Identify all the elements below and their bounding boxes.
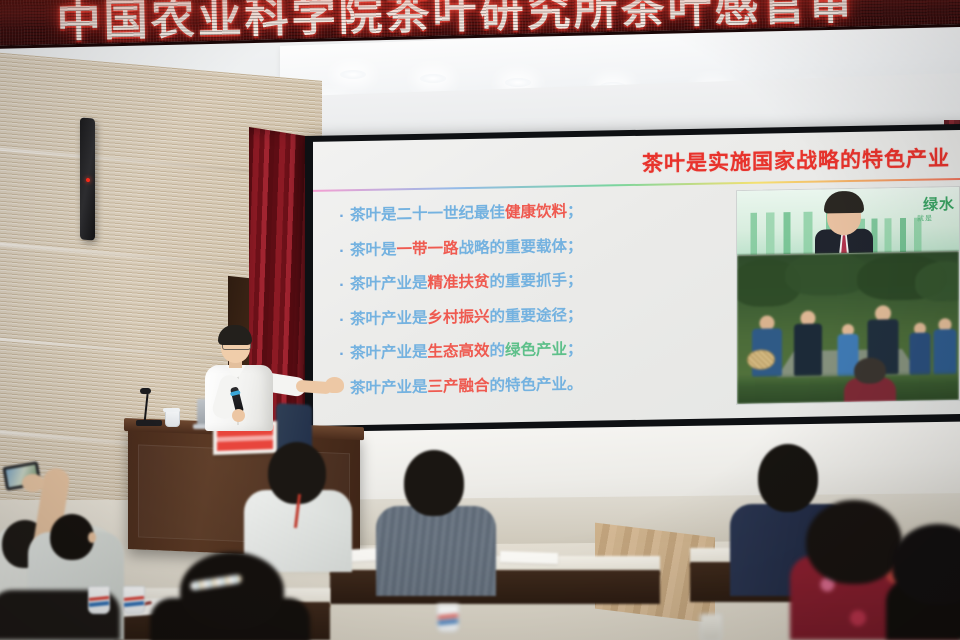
bullet-segment-r: 生态高效 [427,342,489,361]
microphone-base [136,420,162,426]
bullet-segment-b: 茶叶是 [350,240,397,259]
downlight-2 [420,74,446,83]
bullet-segment-b: 的特色产业。 [489,374,582,394]
paper-cup-1 [88,586,110,614]
audience-member-3 [244,432,352,572]
field-viewer-figure [844,357,896,402]
slide-bullet-6: ·茶叶产业是三产融合的特色产业。 [339,369,739,398]
bullet-segment-r: 三产融合 [427,376,489,395]
projection-screen-frame: 茶叶是实施国家战略的特色产业 ·茶叶是二十一世纪最佳健康饮料；·茶叶是一带一路战… [305,124,960,436]
slide-photo-top: 绿水 就是 [737,187,959,255]
slide-bullet-text: 茶叶产业是精准扶贫的重要抓手； [350,268,583,294]
cup-stripe-blue [124,601,144,607]
presenter-hair [218,325,252,345]
slide-bullet-4: ·茶叶产业是乡村振兴的重要途径； [339,300,739,329]
wall-speaker [80,117,95,240]
slide-bullet-2: ·茶叶是一带一路战略的重要载体； [339,231,739,260]
bullet-segment-r: 健康饮料 [505,202,567,221]
audience-ear [88,532,96,543]
slide-bullet-text: 茶叶产业是三产融合的特色产业。 [350,371,583,397]
cup-stripe-blue [89,601,109,607]
bullet-marker-icon: · [339,244,344,259]
bullet-segment-r: 一带一路 [396,239,458,258]
bullet-segment-b: 茶叶是二十一世纪最佳 [350,203,505,224]
audience-member-4 [376,444,496,594]
downlight-1 [340,70,366,79]
bullet-segment-b: 的重要抓手； [489,271,582,291]
audience-member-6 [150,552,310,640]
bullet-segment-b: 茶叶产业是 [350,274,428,293]
microphone-band [230,390,241,396]
figure-torso [794,324,822,377]
audience-body [376,506,496,596]
bullet-segment-b: 的 [489,341,505,359]
bullet-segment-r: 精准扶贫 [427,273,489,292]
bullet-segment-b: 茶叶产业是 [350,343,428,362]
podium-cup-lid [163,408,180,412]
slide-bullet-text: 茶叶是二十一世纪最佳健康饮料； [350,199,583,225]
bullet-segment-b: 茶叶产业是 [350,308,428,327]
bullet-segment-b: 战略的重要载体； [458,236,582,256]
slide-bullet-text: 茶叶产业是生态高效的绿色产业； [350,337,583,363]
slide-title: 茶叶是实施国家战略的特色产业 [642,142,950,178]
audience-member-8 [886,524,960,640]
presenter-left-hand [232,409,245,422]
slide-photo-caption: 绿水 [923,193,955,215]
bullet-marker-icon: · [339,209,344,224]
figure-torso [934,329,957,374]
slide-bullet-text: 茶叶是一带一路战略的重要载体； [350,233,583,259]
glass-cup-4 [700,614,722,640]
speaker-power-led-icon [86,178,90,182]
bullet-segment-b: 茶叶产业是 [350,377,428,396]
gooseneck-microphone-head [140,388,151,394]
audience-head [892,524,960,604]
bullet-segment-g: 绿色产业 [505,340,567,359]
slide-bullet-5: ·茶叶产业是生态高效的绿色产业； [339,334,739,363]
field-figure-2 [793,311,823,378]
cup-stripe-blue [438,619,458,625]
slide-bullet-list: ·茶叶是二十一世纪最佳健康饮料；·茶叶是一带一路战略的重要载体；·茶叶产业是精准… [339,196,739,410]
bullet-segment-r: 乡村振兴 [427,307,489,326]
portrait-figure [813,191,875,254]
figure-torso [910,333,931,375]
paper-document-2 [500,551,558,564]
presenter [196,325,346,435]
downlight-3 [505,78,531,87]
paper-cup-3 [437,604,459,632]
field-figure-6 [933,318,957,374]
slide-photo-subcaption: 就是 [917,213,933,223]
conference-hall-photo: 茶叶是实施国家战略的特色产业 ·茶叶是二十一世纪最佳健康饮料；·茶叶是一带一路战… [0,0,960,640]
slide-photo-bottom [737,251,959,404]
slide-photo-collage: 绿水 就是 [736,186,960,405]
viewer-head [854,357,886,384]
audience-head [180,552,284,630]
field-figure-5 [909,323,931,375]
slide-bullet-3: ·茶叶产业是精准扶贫的重要抓手； [339,265,739,294]
projection-screen: 茶叶是实施国家战略的特色产业 ·茶叶是二十一世纪最佳健康饮料；·茶叶是一带一路战… [313,130,960,426]
paper-cup-2 [123,586,145,614]
bush-2 [785,251,869,296]
bullet-segment-b: 的重要途径； [489,305,582,325]
bullet-segment-b: ； [567,340,583,358]
slide-bullet-text: 茶叶产业是乡村振兴的重要途径； [350,302,583,328]
audience-head [404,450,464,516]
slide-bullet-1: ·茶叶是二十一世纪最佳健康饮料； [339,196,739,225]
podium-water-cup [165,410,180,427]
bullet-segment-b: ； [567,202,583,220]
portrait-hair [824,191,864,214]
bullet-marker-icon: · [339,278,344,293]
presenter-right-hand [325,377,344,393]
